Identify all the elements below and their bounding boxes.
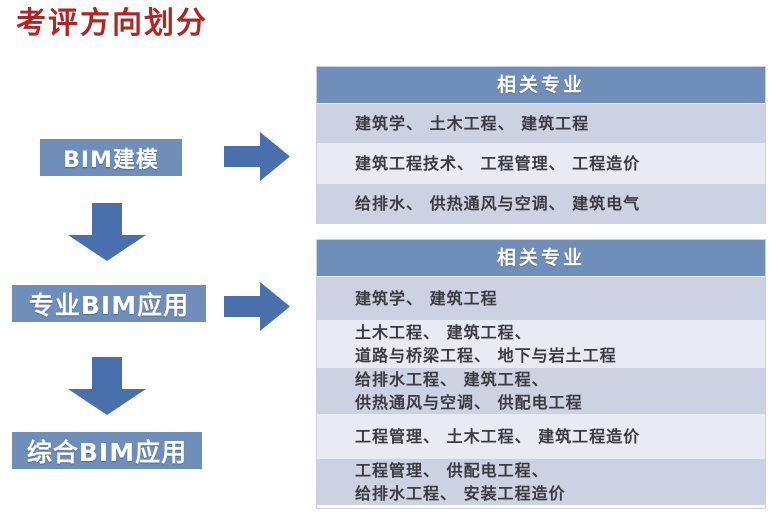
table-row: 给排水工程、 建筑工程、 供热通风与空调、 供配电工程 [317,367,765,414]
related-majors-table-modeling: 相关专业 建筑学、 土木工程、 建筑工程 建筑工程技术、 工程管理、 工程造价 … [316,66,766,224]
row-line: 建筑学、 建筑工程 [355,287,765,310]
page-title: 考评方向划分 [16,2,208,46]
table-row: 土木工程、 建筑工程、 道路与桥梁工程、 地下与岩土工程 [317,320,765,367]
stage-box-comprehensive-bim[interactable]: 综合BIM应用 [12,432,202,469]
row-line: 工程管理、 供配电工程、 [355,459,765,482]
table-row: 给排水、 供热通风与空调、 建筑电气 [317,183,765,223]
table-header: 相关专业 [317,240,765,276]
stage-box-professional-bim[interactable]: 专业BIM应用 [12,285,206,322]
arrow-right-icon [224,132,290,181]
arrow-down-icon [68,203,146,261]
table-row: 建筑学、 建筑工程 [317,276,765,320]
row-line: 道路与桥梁工程、 地下与岩土工程 [355,344,765,367]
stage-box-bim-modeling[interactable]: BIM建模 [40,139,182,176]
row-line: 建筑学、 土木工程、 建筑工程 [355,112,765,135]
row-line: 给排水、 供热通风与空调、 建筑电气 [355,192,765,215]
table-row: 建筑学、 土木工程、 建筑工程 [317,103,765,143]
table-row: 工程管理、 供配电工程、 给排水工程、 安装工程造价 [317,458,765,505]
row-line: 工程管理、 土木工程、 建筑工程造价 [355,425,765,448]
row-line: 土木工程、 建筑工程、 [355,321,765,344]
row-line: 给排水工程、 安装工程造价 [355,482,765,505]
related-majors-table-application: 相关专业 建筑学、 建筑工程 土木工程、 建筑工程、 道路与桥梁工程、 地下与岩… [316,239,766,509]
table-row: 建筑工程技术、 工程管理、 工程造价 [317,143,765,183]
table-row: 工程管理、 土木工程、 建筑工程造价 [317,414,765,458]
table-header: 相关专业 [317,67,765,103]
arrow-right-icon [224,282,290,331]
row-line: 供热通风与空调、 供配电工程 [355,391,765,414]
row-line: 建筑工程技术、 工程管理、 工程造价 [355,152,765,175]
diagram-canvas: 考评方向划分 BIM建模 专业BIM应用 综合BIM应用 相关专业 建筑学、 土… [0,0,778,519]
row-line: 给排水工程、 建筑工程、 [355,368,765,391]
arrow-down-icon [68,357,146,415]
